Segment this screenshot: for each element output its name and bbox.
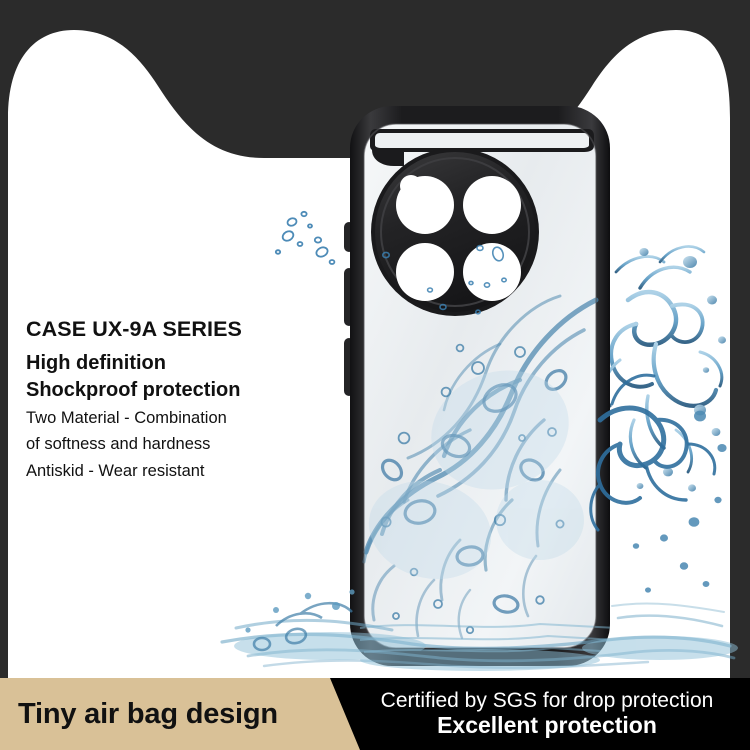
banner-right-block: Certified by SGS for drop protection Exc… [344,678,750,750]
copy-body-3: Antiskid - Wear resistant [26,460,326,483]
copy-body-2: of softness and hardness [26,433,326,456]
marketing-copy-block: CASE UX-9A SERIES High definition Shockp… [26,316,326,483]
banner-certification-line: Certified by SGS for drop protection [381,689,714,713]
bottom-banner: Tiny air bag design Certified by SGS for… [0,678,750,750]
copy-body-1: Two Material - Combination [26,407,326,430]
product-marketing-poster: CASE UX-9A SERIES High definition Shockp… [0,0,750,750]
copy-subheading-1: High definition [26,350,326,377]
banner-headline-line: Excellent protection [437,712,657,739]
copy-subheading-2: Shockproof protection [26,377,326,404]
banner-left-label: Tiny air bag design [18,678,278,750]
copy-heading: CASE UX-9A SERIES [26,316,326,343]
